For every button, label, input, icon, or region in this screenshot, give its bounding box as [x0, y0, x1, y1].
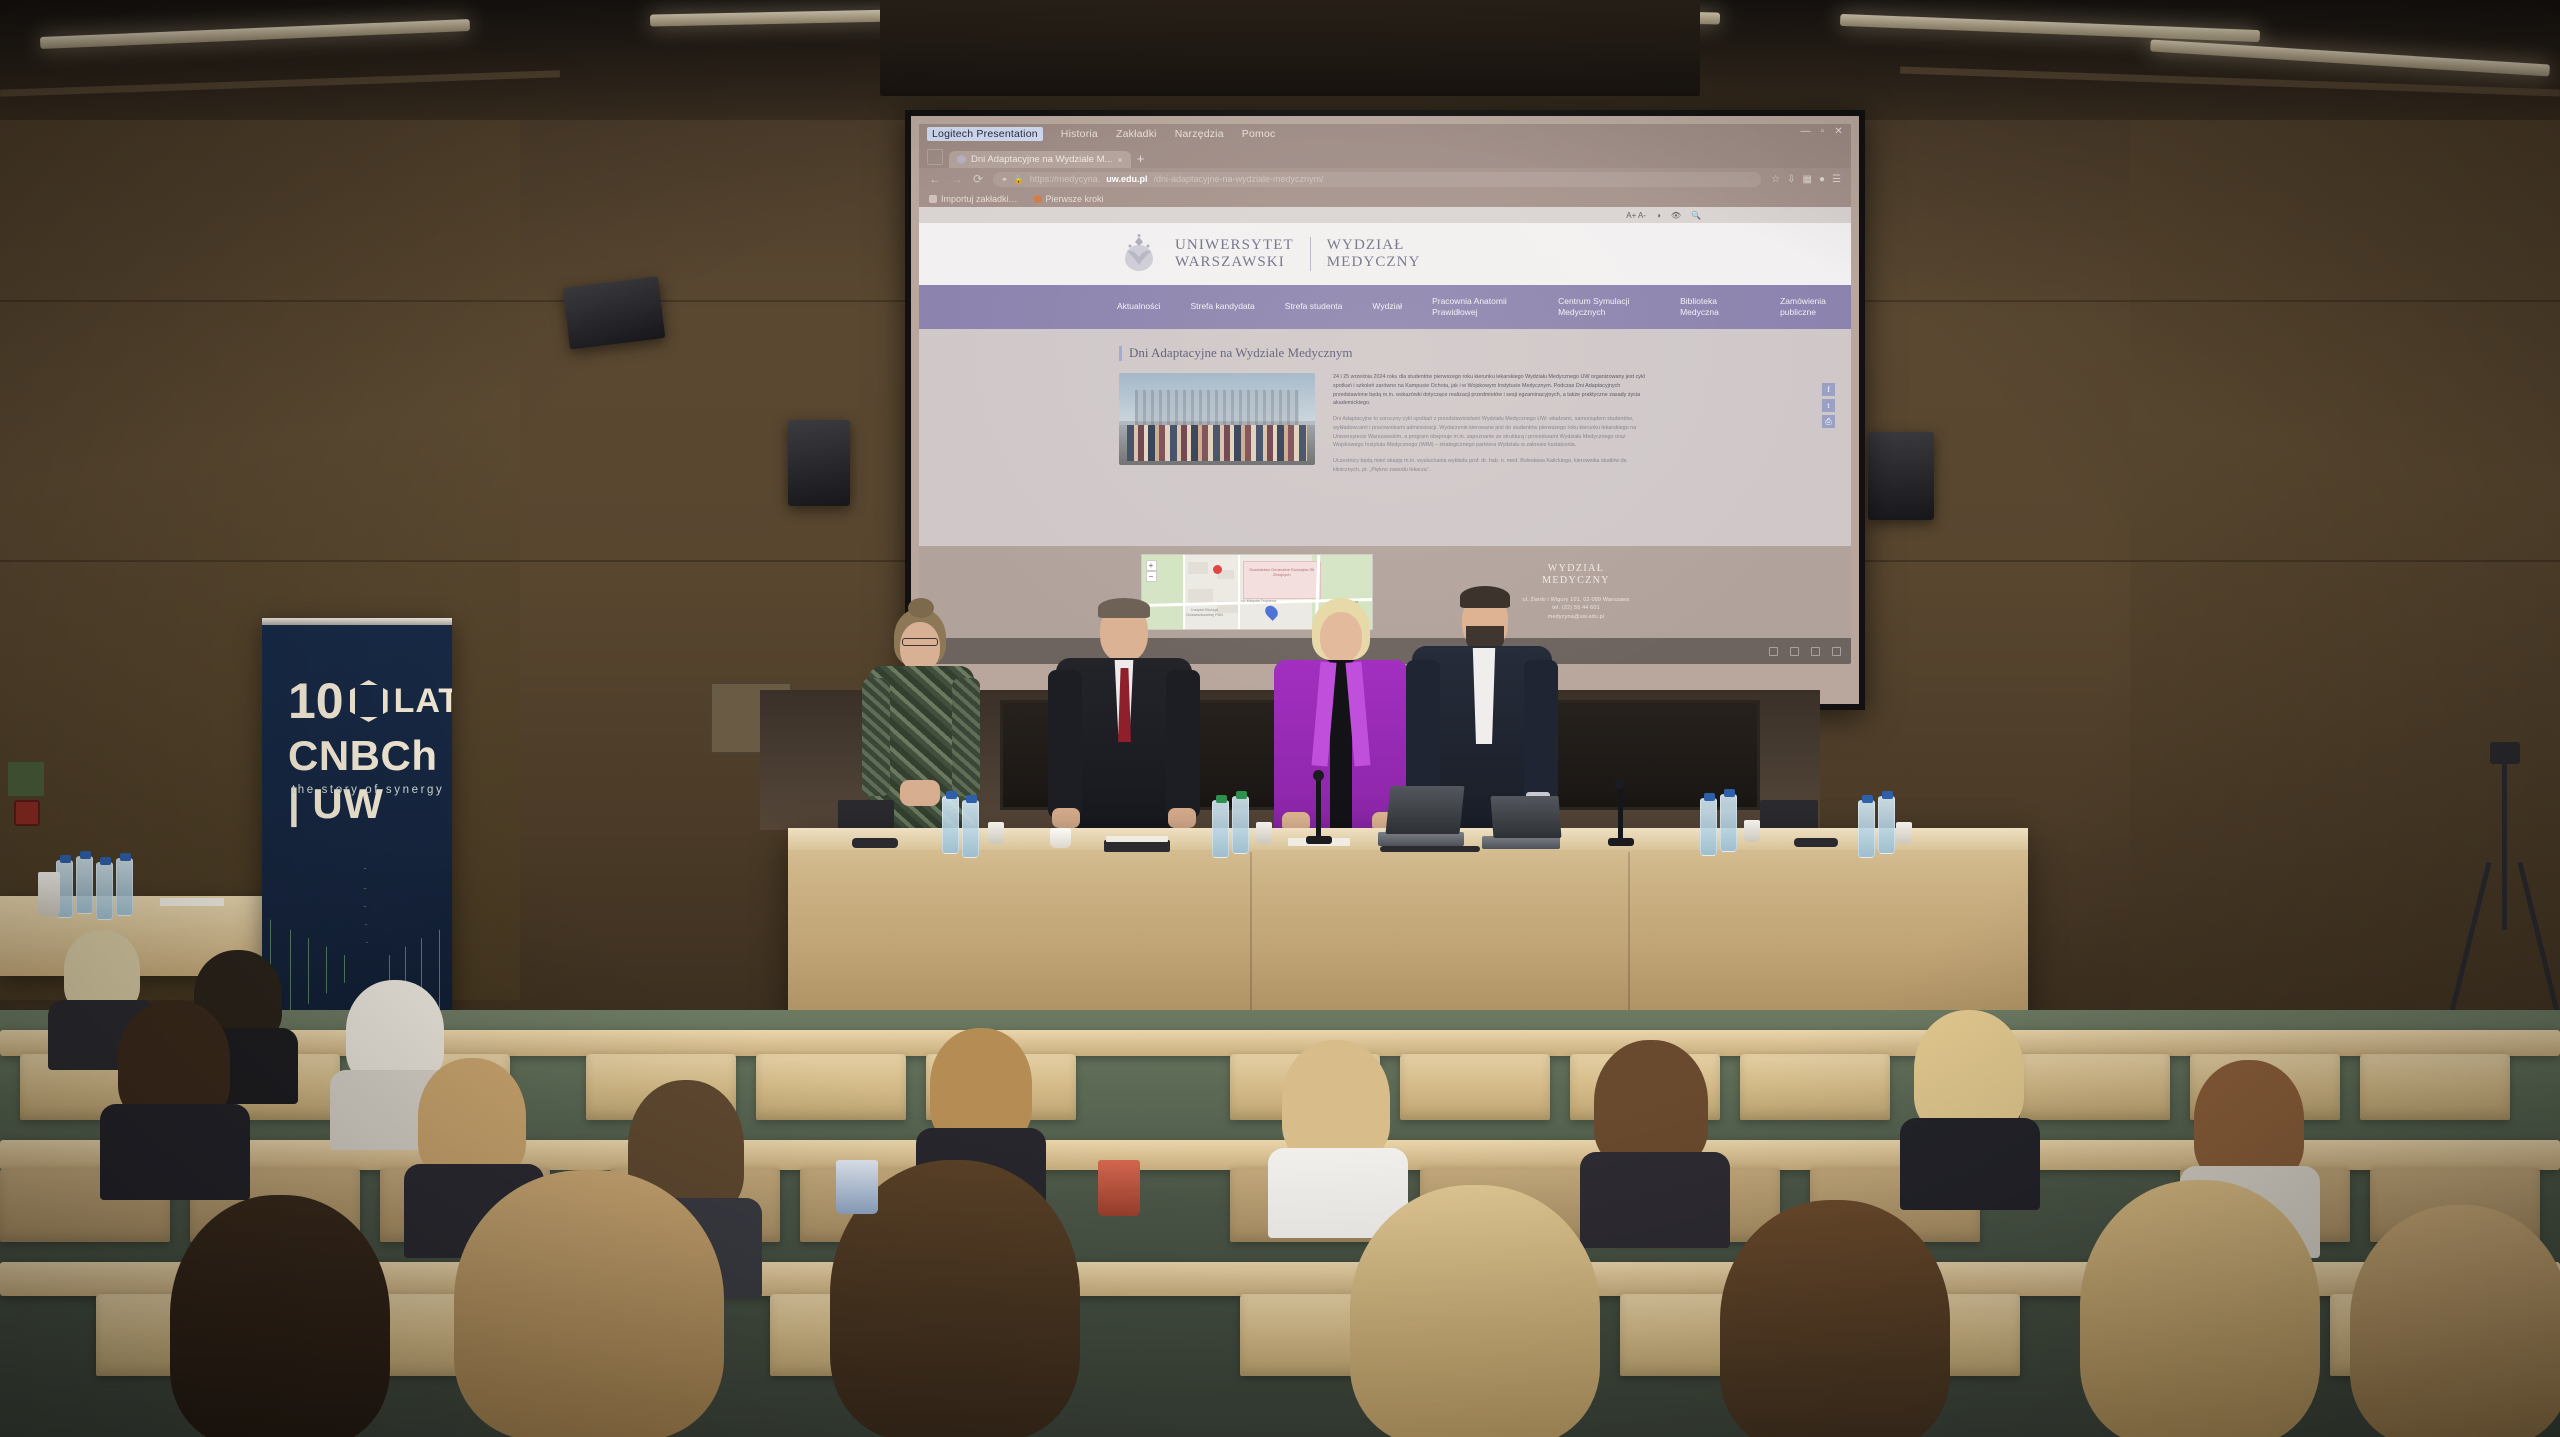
body [100, 1104, 250, 1200]
papers-1 [1106, 836, 1168, 842]
audience-foreground-6 [2060, 1180, 2350, 1437]
browser-menu-bar[interactable]: Logitech Presentation Historia Zakładki … [919, 124, 1851, 144]
paper-cup-2 [1256, 822, 1272, 844]
side-papers [160, 898, 224, 906]
microphone-2-head [1614, 778, 1625, 789]
browser-window[interactable]: Logitech Presentation Historia Zakładki … [919, 124, 1851, 664]
nav-item-zamowienia[interactable]: Zamówienia publiczne [1780, 296, 1850, 319]
audience-foreground-4 [1330, 1185, 1630, 1437]
laptop-1 [1378, 832, 1464, 846]
water-bottle-2 [962, 800, 979, 858]
article-paragraph-1: 24 i 25 września 2024 roku dla studentów… [1333, 373, 1655, 408]
university-line-1: UNIWERSYTET [1175, 237, 1294, 253]
water-bottle-5 [1700, 798, 1717, 856]
article-title-text: Dni Adaptacyjne na Wydziale Medycznym [1129, 345, 1353, 361]
map-zoom-controls[interactable]: + − [1146, 560, 1157, 582]
speaker-3-head [1320, 612, 1362, 662]
ceiling-speaker-left [563, 276, 666, 349]
star-icon[interactable]: ☆ [1771, 174, 1780, 185]
bookmarks-bar[interactable]: Importuj zakładki… Pierwsze kroki [919, 190, 1851, 207]
paper-cup-4 [1896, 822, 1912, 844]
travel-cup-blue [836, 1160, 878, 1214]
nav-item-centrum-symulacji[interactable]: Centrum Symulacji Medycznych [1558, 296, 1650, 319]
new-tab-button[interactable]: + [1137, 151, 1145, 166]
eyeglasses-right [1794, 838, 1838, 847]
speaker-2-hand-left [1052, 808, 1080, 828]
url-scheme: https://medycyna. [1030, 174, 1101, 184]
bookmark-getting-started-label: Pierwsze kroki [1046, 194, 1104, 204]
speaker-2-arm-left [1048, 670, 1082, 818]
lock-icon[interactable]: 🔒 [1014, 175, 1024, 184]
print-icon[interactable]: ⎙ [1822, 415, 1835, 428]
firefox-view-icon[interactable] [927, 149, 943, 165]
audience-member-3 [100, 1000, 250, 1180]
side-bottle-4 [116, 858, 133, 916]
water-bottle-1 [942, 796, 959, 854]
firefox-icon [1034, 195, 1042, 203]
nav-item-strefa-studenta[interactable]: Strefa studenta [1285, 301, 1343, 312]
faculty-line-2: MEDYCZNY [1327, 254, 1421, 270]
site-university-name: UNIWERSYTET WARSZAWSKI [1175, 237, 1294, 271]
close-icon[interactable]: ✕ [1834, 126, 1843, 137]
table-seam-2 [1628, 852, 1630, 1027]
laptop-2-screen [1491, 796, 1562, 838]
browser-tab-active[interactable]: Dni Adaptacyjne na Wydziale M... × [949, 151, 1131, 168]
bookmark-import[interactable]: Importuj zakładki… [929, 194, 1018, 204]
reload-button[interactable]: ⟳ [973, 172, 983, 186]
tripod-leg-1 [2502, 760, 2507, 930]
hair [170, 1195, 390, 1437]
import-icon [929, 195, 937, 203]
eyeglasses-left [852, 838, 898, 848]
share-buttons[interactable]: f t ⎙ [1822, 383, 1835, 428]
table-seam-1 [1250, 852, 1252, 1027]
menu-item-logitech[interactable]: Logitech Presentation [927, 127, 1043, 141]
menu-item-zakladki[interactable]: Zakładki [1116, 128, 1157, 140]
banner-cnbch-ten: 10 LAT [288, 676, 452, 726]
volume-icon[interactable] [1811, 647, 1820, 656]
university-line-2: WARSZAWSKI [1175, 254, 1285, 270]
audience-foreground-1 [150, 1195, 420, 1437]
banner-cnbch-number: 10 [288, 676, 344, 726]
site-faculty-name: WYDZIAŁ MEDYCZNY [1327, 237, 1421, 271]
seat-r1-13[interactable] [2360, 1054, 2510, 1120]
microphone-stem [1316, 778, 1321, 840]
audience-foreground-2 [430, 1170, 760, 1437]
shield-icon[interactable]: ⚭ [1001, 175, 1008, 184]
water-bottle-7 [1858, 800, 1875, 858]
speaker-man-dark-suit [1048, 596, 1200, 848]
microphone-2-stem [1618, 786, 1623, 842]
speaker-1-arm-right [952, 678, 980, 796]
back-button[interactable]: ← [929, 172, 941, 186]
water-bottle-3 [1212, 800, 1229, 858]
speaker-1-hands [900, 780, 940, 806]
seat-r1-10[interactable] [1740, 1054, 1890, 1120]
speaker-1-head [900, 622, 940, 672]
header-divider [1310, 237, 1311, 271]
maximize-icon[interactable]: ▫ [1821, 126, 1825, 137]
banner-cnbch-top-bar [262, 618, 452, 625]
window-controls[interactable]: — ▫ ✕ [1800, 126, 1843, 137]
menu-item-historia[interactable]: Historia [1061, 128, 1098, 140]
paper-cup-3 [1744, 820, 1760, 842]
facebook-icon[interactable]: f [1822, 383, 1835, 396]
wall-speaker-left [788, 420, 850, 506]
fire-alarm [14, 800, 40, 826]
twitter-icon[interactable]: t [1822, 399, 1835, 412]
font-size-toggle[interactable]: A+ A- [1626, 211, 1646, 220]
map-label-dowodztwo: Dowództwo Generalne Rodzajów Sił Zbrojny… [1247, 567, 1316, 577]
article-body: 24 i 25 września 2024 roku dla studentów… [1333, 373, 1655, 482]
water-bottle-6 [1720, 794, 1737, 852]
paper-cup-1 [988, 822, 1004, 844]
tab-title: Dni Adaptacyjne na Wydziale M... [971, 154, 1112, 165]
water-bottle-8 [1878, 796, 1895, 854]
eye-icon[interactable]: 👁 [1671, 211, 1681, 220]
hair [2350, 1205, 2560, 1437]
footer-faculty-line-1: WYDZIAŁ [1548, 563, 1604, 574]
search-icon[interactable]: 🔍 [1691, 211, 1701, 220]
nav-item-strefa-kandydata[interactable]: Strefa kandydata [1190, 301, 1254, 312]
banner-cnbch-title: CNBCh | UW [288, 732, 452, 828]
hair [1914, 1010, 2024, 1134]
seat-r1-11[interactable] [2020, 1054, 2170, 1120]
forward-button[interactable]: → [951, 172, 963, 186]
body [1900, 1118, 2040, 1210]
speaker-4-arm-right [1524, 660, 1558, 812]
hair [1282, 1040, 1390, 1162]
nav-item-pracownia-anatomii[interactable]: Pracownia Anatomii Prawidłowej [1432, 296, 1528, 319]
speaker-1-glasses [902, 638, 938, 646]
extensions-icon[interactable]: ▦ [1803, 174, 1812, 185]
map-zoom-out[interactable]: − [1146, 571, 1157, 582]
travel-cup-red [1098, 1160, 1140, 1216]
tripod-leg-2 [2446, 862, 2492, 1028]
banner-cnbch-lat: LAT [394, 682, 452, 721]
browser-nav-bar[interactable]: ← → ⟳ ⚭ 🔒 https://medycyna.uw.edu.pl/dni… [919, 168, 1851, 190]
download-icon[interactable]: ⇩ [1787, 174, 1795, 185]
speaker-1-bun [908, 598, 934, 618]
contrast-icon[interactable]: ◑ [1656, 211, 1661, 220]
nav-item-wydzial[interactable]: Wydział [1372, 301, 1402, 312]
faculty-line-1: WYDZIAŁ [1327, 237, 1405, 253]
exit-sign [8, 762, 44, 796]
url-path: /dni-adaptacyjne-na-wydziale-medycznym/ [1153, 174, 1323, 184]
speaker-2-hair [1098, 598, 1150, 618]
bookmark-import-label: Importuj zakładki… [941, 194, 1018, 204]
hair [930, 1028, 1032, 1144]
tripod-head [2490, 742, 2520, 764]
banner-cnbch-tagline: the story of synergy [292, 784, 444, 796]
profile-icon[interactable]: ● [1819, 174, 1825, 185]
hexagon-icon [350, 680, 388, 722]
uw-eagle-crest-icon [1119, 233, 1159, 275]
article-title: Dni Adaptacyjne na Wydziale Medycznym [1119, 345, 1655, 361]
url-domain: uw.edu.pl [1106, 174, 1147, 184]
nav-item-aktualnosci[interactable]: Aktualności [1117, 301, 1160, 312]
audience-foreground-5 [1700, 1200, 1980, 1437]
tripod-leg-3 [2518, 862, 2560, 1028]
site-header: UNIWERSYTET WARSZAWSKI WYDZIAŁ MEDYCZNY [919, 223, 1851, 285]
nav-item-biblioteka[interactable]: Biblioteka Medyczna [1680, 296, 1750, 319]
fullscreen-icon[interactable] [1769, 647, 1778, 656]
browser-tab-bar[interactable]: Dni Adaptacyjne na Wydziale M... × + [919, 144, 1851, 168]
accessibility-toolstrip[interactable]: A+ A- ◑ 👁 🔍 [919, 207, 1851, 223]
speaker-2-hand-right [1168, 808, 1196, 828]
menu-item-narzedzia[interactable]: Narzędzia [1175, 128, 1224, 140]
article-paragraph-3: Uczestnicy będą mieć okazję m.in. wysłuc… [1333, 457, 1655, 475]
tab-close-icon[interactable]: × [1117, 155, 1122, 165]
browser-toolbar-icons[interactable]: ☆ ⇩ ▦ ● ☰ [1771, 174, 1841, 185]
microphone-2-base [1608, 838, 1634, 846]
projection-screen-housing [880, 0, 1700, 96]
article-wrapper: Dni Adaptacyjne na Wydziale Medycznym 24… [919, 329, 1851, 482]
article-photo [1119, 373, 1315, 465]
hair [454, 1170, 724, 1437]
article-columns: 24 i 25 września 2024 roku dla studentów… [1119, 373, 1655, 482]
microphone-base [1306, 836, 1332, 844]
speaker-1-arm-left [862, 678, 890, 796]
seat-r1-5[interactable] [756, 1054, 906, 1120]
wall-speaker-right [1868, 432, 1934, 520]
tab-favicon-icon [957, 155, 966, 164]
map-zoom-in[interactable]: + [1146, 560, 1157, 571]
laptop-1-screen [1385, 786, 1464, 834]
hair [1594, 1040, 1708, 1168]
seat-r1-8[interactable] [1400, 1054, 1550, 1120]
camera-tripod [2450, 760, 2560, 1040]
microphone-head [1313, 770, 1324, 781]
audience-foreground-7 [2340, 1205, 2560, 1437]
hair [2080, 1180, 2320, 1437]
minimize-icon[interactable]: — [1800, 126, 1810, 137]
water-bottle-4 [1232, 796, 1249, 854]
hair [418, 1058, 526, 1180]
settings-icon[interactable] [1790, 647, 1799, 656]
title-accent-bar [1119, 346, 1122, 361]
coffee-mug [1050, 828, 1071, 848]
cables [1380, 846, 1480, 852]
hair [2194, 1060, 2304, 1182]
speaker-4-hair [1460, 586, 1510, 608]
bookmark-getting-started[interactable]: Pierwsze kroki [1034, 194, 1104, 204]
more-icon[interactable] [1832, 647, 1841, 656]
speaker-2-arm-right [1166, 670, 1200, 818]
hair [1350, 1185, 1600, 1437]
side-cup-stack [38, 872, 60, 916]
hair [1720, 1200, 1950, 1437]
article-paragraph-2: Dni Adaptacyjne to coroczny cykl spotkań… [1333, 415, 1655, 450]
lecture-hall-scene: Logitech Presentation Historia Zakładki … [0, 0, 2560, 1437]
side-bottle-3 [96, 862, 113, 920]
menu-item-pomoc[interactable]: Pomoc [1242, 128, 1276, 140]
side-bottle-2 [76, 856, 93, 914]
address-bar[interactable]: ⚭ 🔒 https://medycyna.uw.edu.pl/dni-adapt… [993, 172, 1761, 187]
menu-icon[interactable]: ☰ [1832, 174, 1841, 185]
panel-table [788, 830, 2028, 1035]
audience-member-10 [1900, 1010, 2040, 1190]
site-main-nav[interactable]: Aktualności Strefa kandydata Strefa stud… [919, 285, 1851, 329]
